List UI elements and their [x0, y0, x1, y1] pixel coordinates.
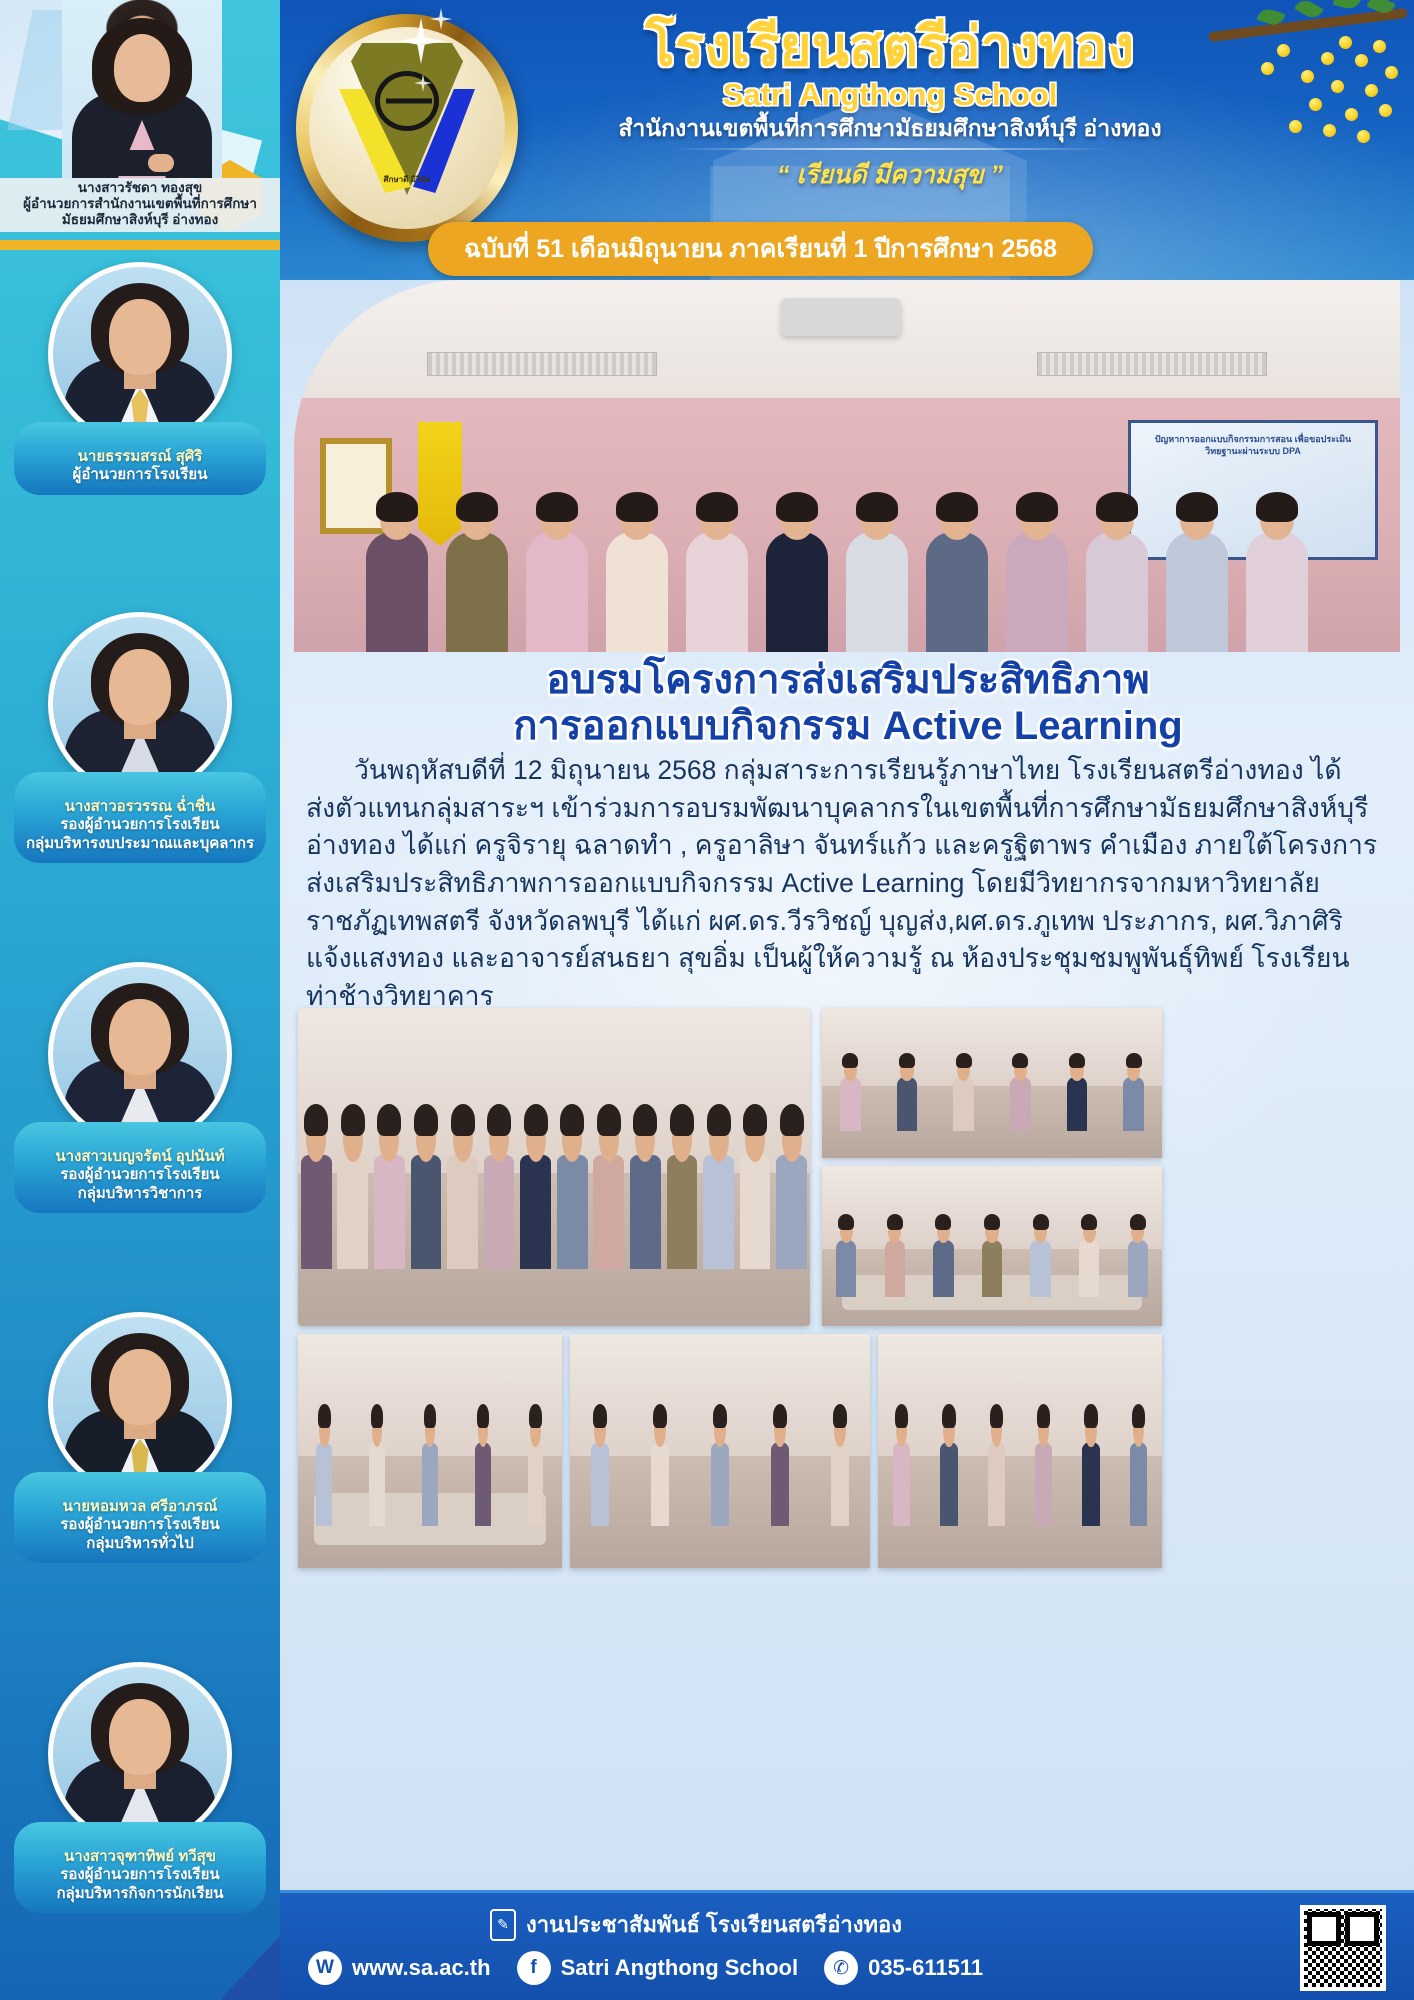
school-logo-icon: สตรีอ่างทอง ศึกษาดี มีวินัย: [309, 27, 505, 229]
photo-person: [334, 1091, 372, 1269]
photo-person: [517, 1091, 555, 1269]
photo-person-head: [844, 1059, 857, 1081]
phone-icon: ✆: [824, 1951, 858, 1985]
photo-person: [604, 502, 670, 652]
flower-icon: [1277, 44, 1290, 57]
staff-role: รองผู้อำนวยการโรงเรียน: [22, 1166, 258, 1184]
photo-person-body: [893, 1442, 910, 1526]
photo-person-head: [900, 1059, 913, 1081]
poster-header: สตรีอ่างทอง ศึกษาดี มีวินัย: [280, 0, 1414, 280]
staff-role: ผู้อำนวยการโรงเรียน: [22, 466, 258, 484]
photo-person-body: [897, 1077, 917, 1131]
photo-person: [626, 1091, 664, 1269]
photo-person-body: [686, 532, 748, 652]
flower-icon: [1261, 62, 1274, 75]
flower-icon: [1331, 80, 1344, 93]
photo-person: [986, 1395, 1007, 1526]
flower-icon: [1339, 36, 1352, 49]
footer-website-text: www.sa.ac.th: [352, 1955, 491, 1981]
photo-arms: [80, 150, 204, 176]
photo-person-head: [1020, 500, 1054, 540]
photo-person-body: [651, 1442, 669, 1526]
staff-dept: กลุ่มบริหารงบประมาณและบุคลากร: [22, 835, 258, 853]
photo-person-head: [709, 1116, 729, 1162]
poster-footer: ✎ งานประชาสัมพันธ์ โรงเรียนสตรีอ่างทอง W…: [280, 1890, 1414, 2000]
photo-person-head: [1127, 1059, 1140, 1081]
flower-icon: [1321, 52, 1334, 65]
photo-person: [370, 1091, 408, 1269]
photo-person-body: [484, 1155, 515, 1269]
photo-person-head: [840, 1220, 853, 1243]
hero-photo-group: ปัญหาการออกแบบกิจกรรมการสอน เพื่อขอประเม…: [294, 280, 1400, 652]
photo-person-head: [453, 1116, 473, 1162]
photo-person-body: [422, 1442, 438, 1526]
photo-person: [844, 502, 910, 652]
photo-person-body: [366, 532, 428, 652]
photo-person-body: [846, 532, 908, 652]
gallery-photo-top-right: [822, 1008, 1162, 1158]
photo-person: [524, 486, 590, 652]
photo-person-body: [1086, 532, 1148, 652]
photo-person-head: [672, 1116, 692, 1162]
photo-person: [480, 1091, 518, 1269]
photo-person: [882, 1208, 908, 1298]
photo-people-row: [878, 1395, 1162, 1526]
photo-person-head: [343, 1116, 363, 1162]
photo-person-body: [740, 1155, 771, 1269]
photo-person-head: [1180, 500, 1214, 540]
photo-person-head: [1085, 1413, 1096, 1447]
photo-person: [924, 494, 990, 652]
area-director-photo: [62, 0, 222, 178]
flower-icon: [1365, 84, 1378, 97]
photo-person-head: [319, 1413, 329, 1447]
photo-person-head: [540, 500, 574, 540]
staff-caption: นายหอมหวล ศรีอาภรณ์ รองผู้อำนวยการโรงเรี…: [14, 1472, 266, 1563]
school-name-thai: โรงเรียนสตรีอ่างทอง: [520, 18, 1260, 76]
staff-dept: กลุ่มบริหารวิชาการ: [22, 1185, 258, 1203]
photo-person-head: [526, 1116, 546, 1162]
footer-phone-text: 035-611511: [868, 1955, 983, 1981]
photo-person-head: [530, 1413, 540, 1447]
photo-person: [1164, 494, 1230, 652]
article-headline-line2: การออกแบบกิจกรรม Active Learning: [513, 704, 1182, 748]
photo-person: [364, 502, 430, 652]
photo-person: [764, 486, 830, 652]
staff-name: นางสาวเบญจรัตน์ อุปนันท์: [22, 1148, 258, 1166]
photo-person: [709, 1395, 732, 1526]
staff-dept: กลุ่มบริหารกิจการนักเรียน: [22, 1885, 258, 1903]
photo-person-body: [337, 1155, 368, 1269]
sidebar: นางสาวรัชดา ทองสุข ผู้อำนวยการสำนักงานเข…: [0, 0, 280, 2000]
photo-projector: [781, 298, 901, 336]
photo-people-row: [822, 1047, 1162, 1131]
photo-person: [951, 1047, 977, 1131]
photo-person-head: [700, 500, 734, 540]
photo-person-head: [1083, 1220, 1096, 1243]
photo-person-body: [776, 1155, 807, 1269]
footer-pr-line: ✎ งานประชาสัมพันธ์ โรงเรียนสตรีอ่างทอง: [490, 1907, 902, 1942]
photo-person-head: [654, 1413, 666, 1447]
staff-card: นายหอมหวล ศรีอาภรณ์ รองผู้อำนวยการโรงเรี…: [0, 1312, 280, 1563]
photo-person: [407, 1091, 445, 1269]
photo-person-body: [374, 1155, 405, 1269]
photo-person-body: [840, 1077, 860, 1131]
photo-person-body: [447, 1155, 478, 1269]
photo-person-head: [991, 1413, 1002, 1447]
photo-person-head: [416, 1116, 436, 1162]
globe-icon: W: [308, 1951, 342, 1985]
photo-person-head: [1133, 1413, 1144, 1447]
photo-person-body: [301, 1155, 332, 1269]
footer-pr-text: งานประชาสัมพันธ์ โรงเรียนสตรีอ่างทอง: [526, 1907, 902, 1942]
header-divider: [670, 148, 1110, 150]
photo-person-body: [1130, 1442, 1147, 1526]
photo-face: [114, 34, 170, 102]
staff-role: รองผู้อำนวยการโรงเรียน: [22, 1866, 258, 1884]
photo-person-body: [557, 1155, 588, 1269]
photo-person-head: [834, 1413, 846, 1447]
photo-person: [834, 1208, 860, 1298]
staff-photo: [53, 1317, 227, 1491]
staff-card: นางสาวอรวรรณ ฉ่ำชื่น รองผู้อำนวยการโรงเร…: [0, 612, 280, 863]
photo-person-body: [953, 1077, 973, 1131]
footer-contact-row: W www.sa.ac.th f Satri Angthong School ✆…: [308, 1951, 983, 1985]
photo-person: [444, 494, 510, 652]
photo-person-body: [926, 532, 988, 652]
photo-person-head: [380, 500, 414, 540]
area-director-name: นางสาวรัชดา ทองสุข: [4, 180, 276, 196]
photo-person-body: [1246, 532, 1308, 652]
photo-face: [109, 1349, 171, 1425]
photo-person: [894, 1047, 920, 1131]
photo-person-body: [831, 1442, 849, 1526]
photo-person-body: [520, 1155, 551, 1269]
photo-person-head: [478, 1413, 488, 1447]
photo-face: [109, 649, 171, 725]
staff-name: นางสาวจุฑาทิพย์ ทวีสุข: [22, 1848, 258, 1866]
photo-person-body: [1067, 1077, 1087, 1131]
staff-caption: นางสาวเบญจรัตน์ อุปนันท์ รองผู้อำนวยการโ…: [14, 1122, 266, 1213]
photo-person-body: [526, 532, 588, 652]
school-logo-medal: สตรีอ่างทอง ศึกษาดี มีวินัย: [296, 14, 518, 242]
staff-caption: นางสาวจุฑาทิพย์ ทวีสุข รองผู้อำนวยการโรง…: [14, 1822, 266, 1913]
photo-person-body: [1166, 532, 1228, 652]
facebook-icon: f: [517, 1951, 551, 1985]
photo-person-body: [1082, 1442, 1099, 1526]
gallery-photo-bottom-left: [298, 1334, 562, 1568]
photo-person-body: [475, 1442, 491, 1526]
main-content: ปัญหาการออกแบบกิจกรรมการสอน เพื่อขอประเม…: [280, 280, 1414, 1890]
photo-person-head: [1260, 500, 1294, 540]
photo-person: [553, 1091, 591, 1269]
flower-icon: [1301, 70, 1314, 83]
photo-ceiling-grille-right: [1037, 352, 1267, 376]
photo-person-body: [1128, 1240, 1148, 1297]
article-headline-line1: อบรมโครงการส่งเสริมประสิทธิภาพ: [546, 658, 1149, 702]
photo-person: [1125, 1208, 1151, 1298]
photo-screen-text: ปัญหาการออกแบบกิจกรรมการสอน เพื่อขอประเม…: [1139, 433, 1367, 457]
area-director-card: นางสาวรัชดา ทองสุข ผู้อำนวยการสำนักงานเข…: [0, 0, 280, 238]
school-name-english: Satri Angthong School: [520, 78, 1260, 112]
staff-card: นายธรรมสรณ์ สุศิริ ผู้อำนวยการโรงเรียน: [0, 262, 280, 495]
sidebar-gold-divider: [0, 240, 280, 250]
photo-face: [109, 999, 171, 1075]
flower-icon: [1379, 104, 1392, 117]
photo-person-head: [940, 500, 974, 540]
photo-person-body: [1030, 1240, 1050, 1297]
photo-person-body: [593, 1155, 624, 1269]
flower-icon: [1289, 120, 1302, 133]
photo-person: [931, 1208, 957, 1298]
photo-person: [938, 1395, 959, 1526]
photo-person-body: [446, 532, 508, 652]
photo-person-body: [766, 532, 828, 652]
photo-person-head: [714, 1413, 726, 1447]
photo-person-head: [957, 1059, 970, 1081]
photo-person-head: [1100, 500, 1134, 540]
photo-person-head: [985, 1220, 998, 1243]
photo-person-body: [836, 1240, 856, 1297]
photo-person: [590, 1091, 628, 1269]
gallery-photo-bottom-middle: [570, 1334, 870, 1568]
flower-icon: [1345, 108, 1358, 121]
staff-card: นางสาวเบญจรัตน์ อุปนันท์ รองผู้อำนวยการโ…: [0, 962, 280, 1213]
photo-ceiling-grille-left: [427, 352, 657, 376]
photo-person: [1080, 1395, 1101, 1526]
staff-name: นายหอมหวล ศรีอาภรณ์: [22, 1498, 258, 1516]
photo-person-head: [774, 1413, 786, 1447]
photo-person: [526, 1395, 546, 1526]
flower-icon: [1309, 98, 1322, 111]
school-motto: “ เรียนดี มีความสุข ”: [520, 155, 1260, 195]
staff-caption: นางสาวอรวรรณ ฉ่ำชื่น รองผู้อำนวยการโรงเร…: [14, 772, 266, 863]
photo-person-head: [780, 500, 814, 540]
photo-person: [1028, 1208, 1054, 1298]
photo-person: [1064, 1047, 1090, 1131]
photo-person: [1033, 1395, 1054, 1526]
photo-hand: [148, 154, 174, 172]
photo-person: [773, 1091, 811, 1269]
staff-role: รองผู้อำนวยการโรงเรียน: [22, 816, 258, 834]
photo-person-head: [943, 1413, 954, 1447]
staff-name: นายธรรมสรณ์ สุศิริ: [22, 448, 258, 466]
flower-icon: [1373, 40, 1386, 53]
article-headline: อบรมโครงการส่งเสริมประสิทธิภาพ การออกแบบ…: [298, 658, 1398, 749]
logo-text-bottom: ศึกษาดี มีวินัย: [383, 173, 430, 186]
flower-icon: [1357, 130, 1370, 143]
photo-person-body: [711, 1442, 729, 1526]
staff-photo: [53, 267, 227, 441]
photo-person-body: [940, 1442, 957, 1526]
photo-person-body: [411, 1155, 442, 1269]
photo-person-body: [591, 1442, 609, 1526]
photo-person: [1128, 1395, 1149, 1526]
staff-photo-frame: [48, 962, 232, 1146]
photo-person-body: [703, 1155, 734, 1269]
newsletter-poster: นางสาวรัชดา ทองสุข ผู้อำนวยการสำนักงานเข…: [0, 0, 1414, 2000]
photo-person-body: [982, 1240, 1002, 1297]
photo-person-body: [1035, 1442, 1052, 1526]
article-body: วันพฤหัสบดีที่ 12 มิถุนายน 2568 กลุ่มสาร…: [306, 752, 1394, 1015]
photo-person-head: [782, 1116, 802, 1162]
photo-person-head: [745, 1116, 765, 1162]
staff-photo: [53, 1667, 227, 1841]
photo-person: [473, 1395, 493, 1526]
photo-person: [663, 1091, 701, 1269]
photo-person: [367, 1395, 387, 1526]
photo-person-head: [1014, 1059, 1027, 1081]
photo-people-row: [294, 472, 1400, 652]
photo-person: [769, 1395, 792, 1526]
document-icon: ✎: [490, 1909, 516, 1941]
photo-person: [1004, 486, 1070, 652]
photo-person-body: [667, 1155, 698, 1269]
gallery-photo-large: [298, 1008, 810, 1326]
photo-person: [1076, 1208, 1102, 1298]
photo-person: [589, 1395, 612, 1526]
staff-photo: [53, 617, 227, 791]
gallery-photo-bottom-right: [878, 1334, 1162, 1568]
photo-person-head: [620, 500, 654, 540]
photo-person: [699, 1091, 737, 1269]
photo-person: [420, 1395, 440, 1526]
photo-person: [838, 1047, 864, 1131]
photo-person-body: [316, 1442, 332, 1526]
photo-person: [649, 1395, 672, 1526]
photo-person-body: [606, 532, 668, 652]
staff-role: รองผู้อำนวยการโรงเรียน: [22, 1516, 258, 1534]
education-office-line: สำนักงานเขตพื้นที่การศึกษามัธยมศึกษาสิงห…: [520, 115, 1260, 141]
gallery-photo-middle-right: [822, 1166, 1162, 1326]
footer-facebook-text: Satri Angthong School: [561, 1955, 799, 1981]
photo-person-body: [630, 1155, 661, 1269]
photo-person-head: [599, 1116, 619, 1162]
photo-person: [298, 1091, 335, 1269]
photo-person-body: [885, 1240, 905, 1297]
photo-person: [443, 1091, 481, 1269]
area-director-role-1: ผู้อำนวยการสำนักงานเขตพื้นที่การศึกษา: [4, 196, 276, 212]
photo-person: [1008, 1047, 1034, 1131]
footer-website[interactable]: W www.sa.ac.th: [308, 1951, 491, 1985]
staff-dept: กลุ่มบริหารทั่วไป: [22, 1535, 258, 1553]
photo-person-body: [1006, 532, 1068, 652]
flower-icon: [1385, 66, 1398, 79]
photo-people-row: [298, 1091, 810, 1269]
footer-facebook[interactable]: f Satri Angthong School: [517, 1951, 799, 1985]
area-director-caption: นางสาวรัชดา ทองสุข ผู้อำนวยการสำนักงานเข…: [0, 178, 280, 232]
leaf-icon: [1333, 0, 1362, 11]
staff-card: นางสาวจุฑาทิพย์ ทวีสุข รองผู้อำนวยการโรง…: [0, 1662, 280, 1913]
photo-person: [891, 1395, 912, 1526]
photo-person-body: [369, 1442, 385, 1526]
photo-person-body: [528, 1442, 544, 1526]
photo-person: [829, 1395, 852, 1526]
area-director-role-2: มัธยมศึกษาสิงห์บุรี อ่างทอง: [4, 212, 276, 228]
photo-person: [315, 1395, 335, 1526]
photo-person: [1084, 502, 1150, 652]
photo-person-head: [460, 500, 494, 540]
header-title-block: โรงเรียนสตรีอ่างทอง Satri Angthong Schoo…: [520, 18, 1260, 195]
photo-person-body: [933, 1240, 953, 1297]
photo-person-body: [1123, 1077, 1143, 1131]
photo-person-head: [1070, 1059, 1083, 1081]
flower-icon: [1355, 54, 1368, 67]
photo-person-body: [1010, 1077, 1030, 1131]
photo-person-head: [860, 500, 894, 540]
photo-people-row: [298, 1395, 562, 1526]
staff-photo-frame: [48, 1662, 232, 1846]
staff-photo-frame: [48, 1312, 232, 1496]
photo-person: [1244, 486, 1310, 652]
photo-people-row: [570, 1395, 870, 1526]
photo-person-head: [594, 1413, 606, 1447]
staff-photo: [53, 967, 227, 1141]
footer-phone[interactable]: ✆ 035-611511: [824, 1951, 983, 1985]
photo-people-row: [822, 1208, 1162, 1298]
photo-person: [1121, 1047, 1147, 1131]
flower-icon: [1323, 124, 1336, 137]
staff-photo-frame: [48, 612, 232, 796]
photo-person-body: [988, 1442, 1005, 1526]
photo-person-body: [1079, 1240, 1099, 1297]
photo-person: [684, 494, 750, 652]
photo-face: [109, 1699, 171, 1775]
photo-person: [979, 1208, 1005, 1298]
staff-name: นางสาวอรวรรณ ฉ่ำชื่น: [22, 798, 258, 816]
qr-code[interactable]: [1300, 1905, 1386, 1991]
photo-person-head: [489, 1116, 509, 1162]
staff-caption: นายธรรมสรณ์ สุศิริ ผู้อำนวยการโรงเรียน: [14, 422, 266, 495]
logo-monogram-ring: [375, 71, 439, 131]
photo-person: [736, 1091, 774, 1269]
photo-face: [109, 299, 171, 375]
staff-photo-frame: [48, 262, 232, 446]
issue-badge: ฉบับที่ 51 เดือนมิถุนายน ภาคเรียนที่ 1 ป…: [428, 222, 1093, 276]
photo-person-body: [771, 1442, 789, 1526]
